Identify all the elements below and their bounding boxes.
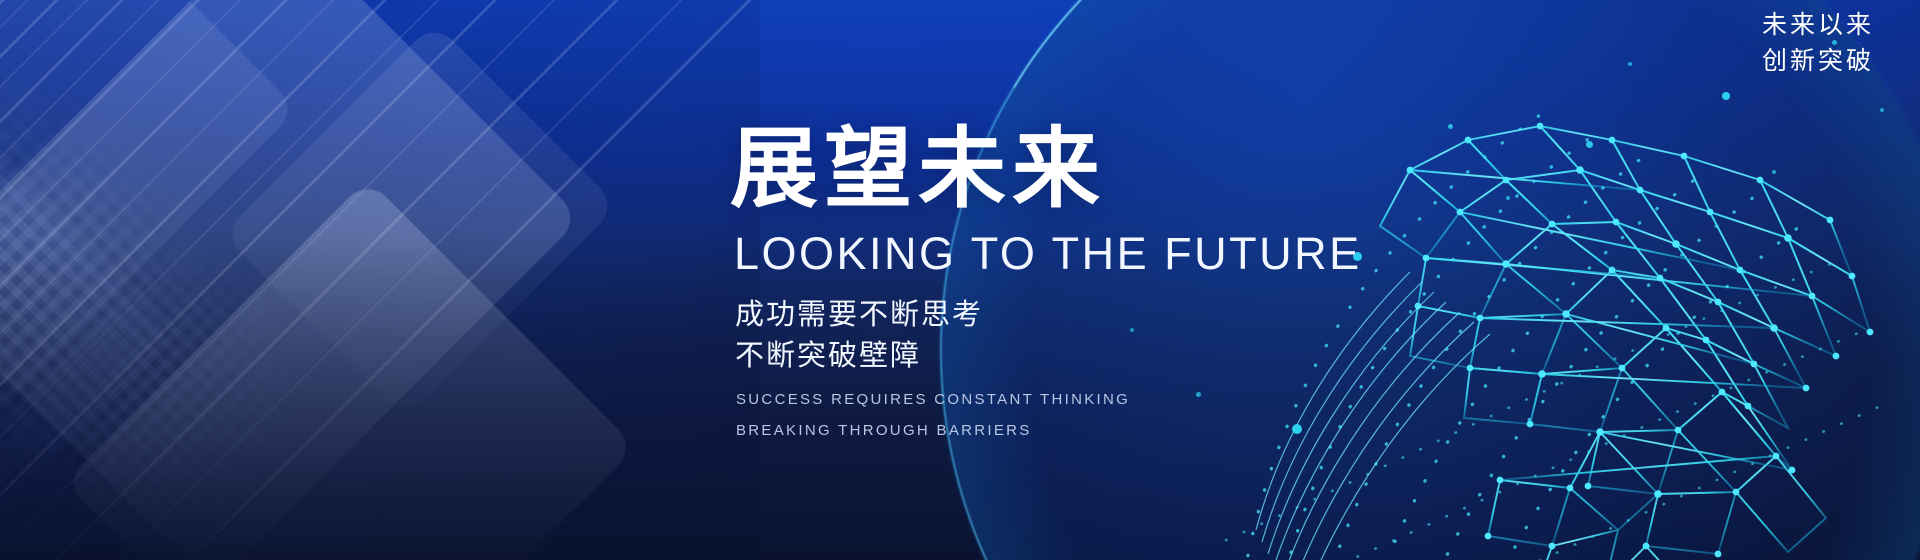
corner-tagline-line-2: 创新突破 xyxy=(1762,44,1874,80)
particle-dot xyxy=(1722,92,1730,100)
particle-dot xyxy=(1586,141,1593,148)
corner-tagline: 未来以来 创新突破 xyxy=(1762,8,1874,79)
headline-block: 展望未来 LOOKING TO THE FUTURE 成功需要不断思考 不断突破… xyxy=(730,122,1362,443)
subtitle-cn-line-2: 不断突破壁障 xyxy=(735,337,1362,376)
hero-banner: 展望未来 LOOKING TO THE FUTURE 成功需要不断思考 不断突破… xyxy=(0,0,1920,560)
particle-dot xyxy=(1628,62,1632,66)
particle-dot xyxy=(1880,108,1884,112)
page-title-cn: 展望未来 xyxy=(730,122,1362,215)
page-title-en: LOOKING TO THE FUTURE xyxy=(734,229,1362,279)
particle-dot xyxy=(1448,124,1453,129)
particle-dot xyxy=(1506,196,1510,200)
subtitle-en-line-2: BREAKING THROUGH BARRIERS xyxy=(736,419,1362,443)
particle-dot xyxy=(1772,170,1776,174)
corner-tagline-line-1: 未来以来 xyxy=(1762,8,1874,44)
subtitle-cn-line-1: 成功需要不断思考 xyxy=(735,296,1362,335)
subtitle-en-line-1: SUCCESS REQUIRES CONSTANT THINKING xyxy=(736,388,1362,412)
